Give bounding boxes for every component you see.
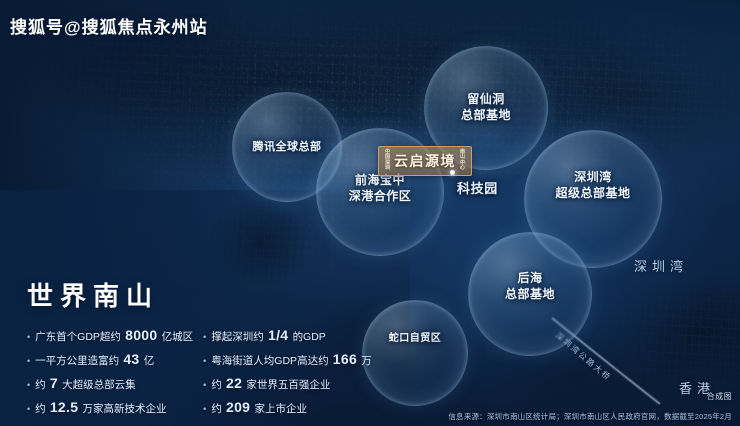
bullet-icon: • [203,381,206,390]
stat-suffix: 万家高新技术企业 [82,403,166,415]
stat-item-text: 约 209 家上市企业 [211,399,307,417]
plaque-main-title: 云启源境 [394,151,456,171]
stat-item-text: 粤海街道人均GDP高达约 166 万 [211,351,371,369]
stat-item: •约 7 大超级总部云集 [27,375,193,393]
composite-image-credit: 合成图 [707,391,732,402]
stat-suffix: 大超级总部云集 [62,379,136,391]
map-bubble-label: 腾讯全球总部 [253,140,322,154]
stat-item: •广东首个GDP超约 8000 亿城区 [27,327,193,345]
stat-number: 12.5 [46,399,83,415]
map-bubble-houhai[interactable]: 后海 总部基地 [468,232,592,356]
stat-prefix: 广东首个GDP超约 [35,331,121,343]
bullet-icon: • [203,333,206,342]
stat-item-text: 一平方公里造富约 43 亿 [35,351,154,369]
bullet-icon: • [27,333,30,342]
map-bubble-label: 留仙洞 总部基地 [461,92,511,123]
stat-item: •约 12.5 万家高新技术企业 [27,399,193,417]
stats-column-right: •撑起深圳约 1/4 的GDP•粤海街道人均GDP高达约 166 万•约 22 … [203,327,355,426]
info-panel: 世界南山 •广东首个GDP超约 8000 亿城区•一平方公里造富约 43 亿•约… [27,276,327,426]
stat-number: 43 [119,351,144,367]
stat-item-text: 约 12.5 万家高新技术企业 [35,399,166,417]
stat-item: •撑起深圳约 1/4 的GDP [203,327,355,345]
stats-column-left: •广东首个GDP超约 8000 亿城区•一平方公里造富约 43 亿•约 7 大超… [27,327,193,426]
stat-suffix: 万 [361,355,372,367]
bullet-icon: • [27,381,30,390]
stats-columns: •广东首个GDP超约 8000 亿城区•一平方公里造富约 43 亿•约 7 大超… [27,327,327,426]
panel-title: 世界南山 [27,276,327,313]
plaque-side-right: 南山 中心 [459,150,466,171]
map-label-tech-park: 科技园 [457,178,498,197]
tech-park-dot-marker [450,170,455,175]
map-infographic: 深圳湾公路大桥 搜狐号@搜狐焦点永州站 深圳湾 香港 腾讯全球总部 留仙洞 总部… [0,0,740,426]
plaque-side-left: 中国 深圳 [384,150,391,171]
map-bubble-label: 蛇口自贸区 [389,332,442,375]
project-name-plaque[interactable]: 中国 深圳 云启源境 南山 中心 [378,146,472,176]
stat-item: •粤海街道人均GDP高达约 166 万 [203,351,355,369]
stat-number: 7 [46,375,62,391]
map-bubble-label: 深圳湾 超级总部基地 [555,170,630,227]
stat-number: 8000 [121,327,162,343]
bullet-icon: • [203,357,206,366]
stat-prefix: 约 [211,403,222,415]
stat-number: 209 [222,399,255,415]
geo-label-shenzhen-bay: 深圳湾 [634,256,688,275]
stat-suffix: 的GDP [293,331,326,343]
data-source-note: 信息来源：深圳市南山区统计局；深圳市南山区人民政府官网，数据截至2025年2月 [448,411,732,422]
stat-prefix: 约 [35,403,46,415]
stat-number: 166 [329,351,362,367]
map-bubble-shekou[interactable]: 蛇口自贸区 [362,300,468,406]
map-bubble-label: 前海宝中 深港合作区 [349,173,412,210]
stat-suffix: 亿 [144,355,155,367]
stat-number: 1/4 [264,327,293,343]
stat-item-text: 广东首个GDP超约 8000 亿城区 [35,327,193,345]
stat-prefix: 一平方公里造富约 [35,355,119,367]
stat-prefix: 约 [35,379,46,391]
stat-item-text: 约 22 家世界五百强企业 [211,375,330,393]
map-bubble-label: 后海 总部基地 [505,271,555,316]
stat-suffix: 亿城区 [162,331,194,343]
stat-item: •约 22 家世界五百强企业 [203,375,355,393]
stat-suffix: 家上市企业 [254,403,307,415]
stat-prefix: 撑起深圳约 [211,331,264,343]
stat-prefix: 粤海街道人均GDP高达约 [211,355,328,367]
bullet-icon: • [27,405,30,414]
bullet-icon: • [27,357,30,366]
stat-number: 22 [222,375,247,391]
stat-item: •一平方公里造富约 43 亿 [27,351,193,369]
stat-item-text: 约 7 大超级总部云集 [35,375,135,393]
bullet-icon: • [203,405,206,414]
stat-item: •约 209 家上市企业 [203,399,355,417]
stat-item-text: 撑起深圳约 1/4 的GDP [211,327,326,345]
stat-suffix: 家世界五百强企业 [246,379,330,391]
stat-prefix: 约 [211,379,222,391]
sohu-watermark: 搜狐号@搜狐焦点永州站 [10,13,208,38]
